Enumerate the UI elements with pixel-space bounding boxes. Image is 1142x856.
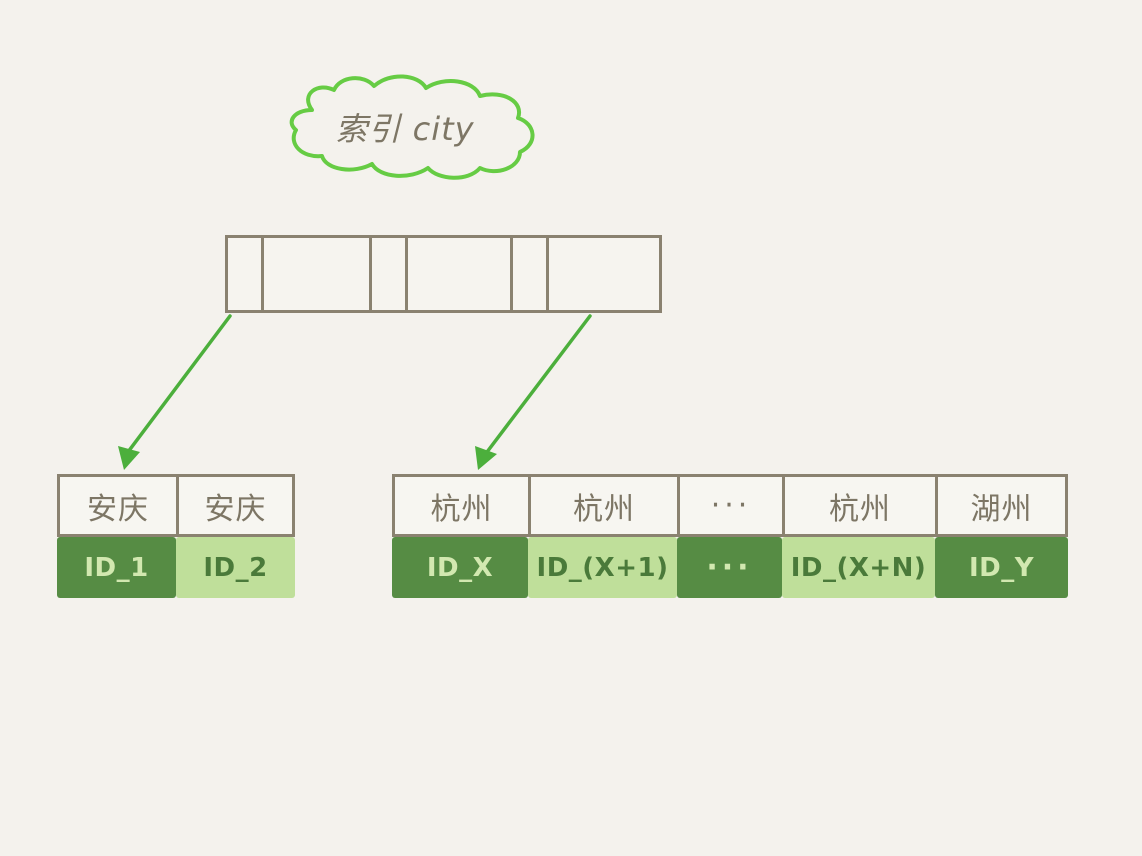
root-cell-key-1[interactable] <box>264 238 372 310</box>
index-cloud-text: 索引 city <box>268 72 542 182</box>
leaf-right-column-ellipsis[interactable]: ··· ··· <box>677 474 782 598</box>
leaf-right-column-2[interactable]: 杭州 ID_(X+1) <box>528 474 677 598</box>
root-cell-pointer-3[interactable] <box>513 238 549 310</box>
leaf-right-city-ellipsis: ··· <box>677 474 782 537</box>
leaf-right-column-5[interactable]: 湖州 ID_Y <box>935 474 1068 598</box>
index-root-node[interactable] <box>225 235 662 313</box>
leaf-right-city-5: 湖州 <box>935 474 1068 537</box>
leaf-right-city-1: 杭州 <box>392 474 528 537</box>
leaf-left-city-1: 安庆 <box>57 474 176 537</box>
leaf-left-column-2[interactable]: 安庆 ID_2 <box>176 474 295 598</box>
leaf-right-column-4[interactable]: 杭州 ID_(X+N) <box>782 474 935 598</box>
leaf-left-id-1: ID_1 <box>57 537 176 598</box>
leaf-right-id-2: ID_(X+1) <box>528 537 677 598</box>
arrow-root-to-left-leaf <box>118 316 230 470</box>
leaf-right-id-5: ID_Y <box>935 537 1068 598</box>
leaf-right-city-4: 杭州 <box>782 474 935 537</box>
leaf-right-id-4: ID_(X+N) <box>782 537 935 598</box>
root-cell-key-3[interactable] <box>549 238 659 310</box>
leaf-node-hangzhou[interactable]: 杭州 ID_X 杭州 ID_(X+1) ··· ··· 杭州 ID_(X+N) … <box>392 474 1068 598</box>
leaf-right-city-2: 杭州 <box>528 474 677 537</box>
leaf-left-id-2: ID_2 <box>176 537 295 598</box>
index-cloud-label: 索引 city <box>268 72 542 182</box>
root-cell-pointer-2[interactable] <box>372 238 408 310</box>
leaf-left-column-1[interactable]: 安庆 ID_1 <box>57 474 176 598</box>
leaf-right-id-ellipsis: ··· <box>677 537 782 598</box>
root-cell-key-2[interactable] <box>408 238 513 310</box>
leaf-node-anqing[interactable]: 安庆 ID_1 安庆 ID_2 <box>57 474 295 598</box>
arrow-root-to-right-leaf <box>475 316 590 470</box>
leaf-right-id-1: ID_X <box>392 537 528 598</box>
leaf-right-column-1[interactable]: 杭州 ID_X <box>392 474 528 598</box>
leaf-left-city-2: 安庆 <box>176 474 295 537</box>
diagram-canvas: 索引 city 安庆 ID_1 安庆 ID_2 杭州 <box>0 0 1142 856</box>
arrow-layer <box>0 0 1142 856</box>
root-cell-pointer-1[interactable] <box>228 238 264 310</box>
